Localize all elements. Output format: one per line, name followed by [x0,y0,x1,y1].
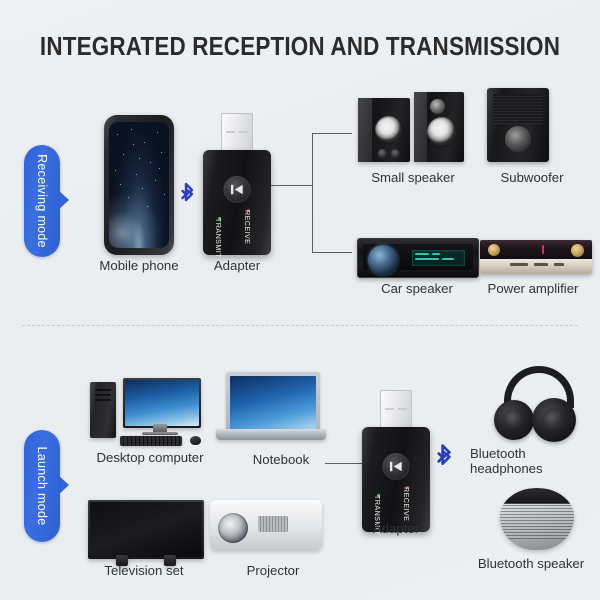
connector-to-small-speaker [312,133,352,134]
amplifier-knob-left [488,244,500,256]
speaker-left-side-panel [358,98,372,162]
headphones-cup-left [494,400,534,440]
section-divider [22,325,578,326]
projector-body [210,500,322,550]
amplifier-indicator [542,245,544,254]
television-set-image [88,500,200,562]
connector-to-car-speaker [312,252,352,253]
subwoofer-driver [505,126,531,152]
projector-image [210,500,322,556]
projector-vent [258,516,288,532]
usb-connector [221,113,253,151]
adapter-receiving-label: Adapter [187,258,287,273]
receive-label: RECEIVE [402,487,411,521]
power-amplifier-image [480,240,592,274]
television-set-label: Television set [74,563,214,578]
mobile-phone-image [104,115,174,255]
notebook-screen [230,376,316,431]
notebook-image [216,372,326,446]
small-speaker-label: Small speaker [343,170,483,185]
notebook-lid [226,372,320,435]
page-title: INTEGRATED RECEPTION AND TRANSMISSION [36,33,564,62]
bluetooth-headphones-image [490,366,590,444]
desktop-computer-image [90,378,210,446]
speaker-left [358,98,410,162]
computer-mouse [190,436,201,445]
monitor-stand-neck [153,424,167,432]
adapter-body: TRANSMIT RECEIVE [362,427,430,532]
speaker-right-tweeter [430,99,445,114]
adapter-body: TRANSMIT RECEIVE [203,150,271,255]
speaker-right [414,92,464,162]
amplifier-knob-right [571,244,584,257]
usb-connector [380,390,412,428]
phone-screen [109,122,169,248]
bluetooth-icon [437,443,455,478]
power-amplifier-label: Power amplifier [466,281,600,296]
previous-track-icon[interactable] [383,453,410,480]
bluetooth-icon [181,182,197,213]
connector-trunk-top [312,133,313,253]
connector-adapter-out [271,185,313,186]
notebook-label: Notebook [226,452,336,467]
computer-tower [90,382,116,438]
receive-label: RECEIVE [243,210,252,244]
speaker-right-side-panel [414,92,427,162]
small-speaker-image [358,88,470,162]
previous-track-icon[interactable] [224,176,251,203]
amplifier-button-1 [510,263,528,266]
bluetooth-speaker-image [500,488,574,550]
amplifier-button-3 [554,263,564,266]
subwoofer-label: Subwoofer [472,170,592,185]
car-stereo-display [412,250,465,265]
subwoofer-grille [493,94,543,124]
adapter-launch-label: Adapter [346,521,446,536]
amplifier-bottom-panel [480,259,592,274]
bt-speaker-mesh [500,503,574,539]
speaker-left-knob-2 [391,149,400,158]
speaker-left-woofer [375,116,403,144]
desktop-computer-label: Desktop computer [80,450,220,465]
subwoofer-cabinet [487,88,549,162]
amplifier-chassis [480,240,592,274]
speaker-left-knob-1 [378,149,387,158]
car-speaker-image [357,238,477,276]
transmit-label: TRANSMIT [214,218,223,258]
monitor-screen [125,380,199,426]
car-stereo-dial [368,245,398,275]
monitor-stand-base [142,432,178,435]
launch-mode-badge: Launch mode [24,430,72,542]
tv-screen [90,502,202,557]
adapter-launch: TRANSMIT RECEIVE [362,390,430,535]
bt-speaker-body [500,488,574,550]
receiving-mode-badge-label: Receiving mode [24,145,60,257]
projector-label: Projector [218,563,328,578]
launch-mode-badge-label: Launch mode [24,430,60,542]
car-stereo-unit [357,238,479,278]
tv-panel [88,500,204,559]
infographic-page: INTEGRATED RECEPTION AND TRANSMISSION Re… [0,0,600,600]
headphones-cup-right [532,398,576,442]
connector-sources-to-adapter [325,463,363,464]
computer-monitor [123,378,201,428]
adapter-receiving: TRANSMIT RECEIVE [203,113,271,258]
bluetooth-headphones-label: Bluetooth headphones [470,446,600,476]
notebook-base [216,429,326,440]
subwoofer-image [487,88,549,162]
bluetooth-speaker-label: Bluetooth speaker [462,556,600,571]
mobile-phone-label: Mobile phone [74,258,204,273]
speaker-right-woofer [427,117,457,147]
projector-lens [218,513,248,543]
receiving-mode-badge: Receiving mode [24,145,72,257]
phone-wallpaper-stars [109,122,169,248]
amplifier-button-2 [534,263,548,266]
computer-keyboard [120,436,182,446]
bt-speaker-top-cap [500,488,574,504]
